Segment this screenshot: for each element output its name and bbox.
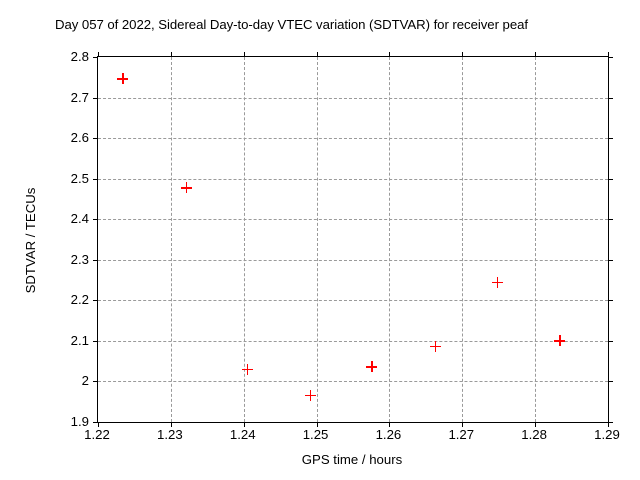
data-point-marker: [366, 361, 377, 372]
gridline-horizontal: [98, 219, 608, 220]
y-tick-label: 1.9: [29, 415, 89, 428]
x-tick-label: 1.22: [62, 428, 132, 442]
gridline-horizontal: [98, 98, 608, 99]
x-axis-tick-top: [171, 52, 172, 57]
y-axis-tick-right: [608, 219, 613, 220]
y-axis-tick-right: [608, 381, 613, 382]
y-axis-tick: [93, 300, 98, 301]
data-point-marker: [430, 341, 441, 352]
data-point-marker: [554, 335, 565, 346]
gridline-vertical: [535, 57, 536, 422]
y-tick-label: 2.8: [29, 50, 89, 63]
y-tick-label: 2.6: [29, 131, 89, 144]
y-tick-label: 2: [29, 374, 89, 387]
gridline-horizontal: [98, 381, 608, 382]
y-tick-label: 2.5: [29, 172, 89, 185]
x-axis-label: GPS time / hours: [97, 452, 607, 468]
x-axis-tick-top: [317, 52, 318, 57]
y-axis-tick-right: [608, 341, 613, 342]
gridline-vertical: [317, 57, 318, 422]
y-tick-label-group: 1.922.12.22.32.42.52.62.72.8: [27, 56, 89, 421]
gridline-horizontal: [98, 260, 608, 261]
gridline-vertical: [389, 57, 390, 422]
plot-area: [97, 56, 609, 423]
y-axis-tick-right: [608, 98, 613, 99]
y-axis-tick: [93, 138, 98, 139]
x-tick-label: 1.26: [353, 428, 423, 442]
y-axis-tick: [93, 98, 98, 99]
gridline-vertical: [462, 57, 463, 422]
y-axis-tick: [93, 179, 98, 180]
x-axis-tick-top: [98, 52, 99, 57]
y-tick-label: 2.3: [29, 253, 89, 266]
y-axis-tick-right: [608, 138, 613, 139]
y-axis-tick: [93, 341, 98, 342]
gridline-horizontal: [98, 179, 608, 180]
x-tick-label: 1.29: [572, 428, 640, 442]
data-point-marker: [242, 364, 253, 375]
x-axis-tick-top: [608, 52, 609, 57]
data-point-marker: [492, 277, 503, 288]
x-tick-label: 1.23: [135, 428, 205, 442]
y-axis-tick-right: [608, 57, 613, 58]
plot-canvas: [98, 57, 608, 422]
y-axis-tick: [93, 219, 98, 220]
x-axis-tick-top: [389, 52, 390, 57]
y-tick-label: 2.7: [29, 91, 89, 104]
data-point-marker: [117, 73, 128, 84]
y-tick-label: 2.4: [29, 212, 89, 225]
data-point-marker: [305, 390, 316, 401]
chart-title: Day 057 of 2022, Sidereal Day-to-day VTE…: [55, 17, 640, 32]
gridline-vertical: [171, 57, 172, 422]
data-point-marker: [181, 182, 192, 193]
x-axis-tick-top: [535, 52, 536, 57]
y-axis-tick: [93, 381, 98, 382]
x-tick-label: 1.27: [426, 428, 496, 442]
x-tick-label: 1.24: [208, 428, 278, 442]
y-axis-tick-right: [608, 179, 613, 180]
y-axis-tick-right: [608, 260, 613, 261]
y-axis-tick: [93, 57, 98, 58]
x-axis-tick-top: [462, 52, 463, 57]
gridline-horizontal: [98, 138, 608, 139]
chart-figure: Day 057 of 2022, Sidereal Day-to-day VTE…: [0, 0, 640, 480]
y-axis-tick: [93, 260, 98, 261]
y-tick-label: 2.1: [29, 334, 89, 347]
x-axis-tick-top: [244, 52, 245, 57]
x-tick-label-group: 1.221.231.241.251.261.271.281.29: [97, 428, 607, 446]
y-tick-label: 2.2: [29, 293, 89, 306]
y-axis-tick-right: [608, 300, 613, 301]
x-tick-label: 1.28: [499, 428, 569, 442]
x-tick-label: 1.25: [281, 428, 351, 442]
gridline-horizontal: [98, 341, 608, 342]
gridline-horizontal: [98, 300, 608, 301]
